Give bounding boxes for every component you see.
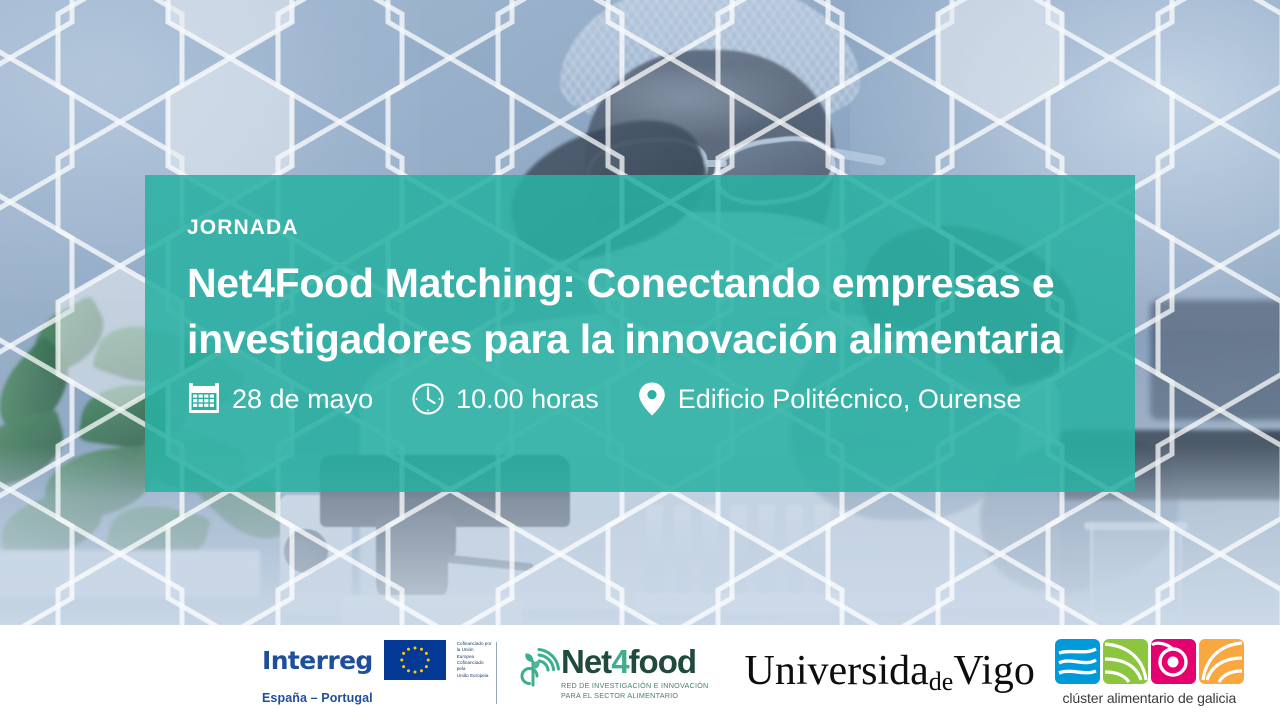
meta-time-label: 10.00 horas (456, 386, 599, 413)
net4food-accent-four: 4 (611, 643, 628, 680)
net4food-sprout-wifi-icon (515, 647, 561, 698)
interreg-subtitle: España – Portugal (262, 691, 373, 705)
clock-icon (411, 382, 445, 416)
location-pin-icon (637, 381, 667, 417)
eu-flag-icon (384, 640, 446, 680)
footer-logo-bar: Interreg (0, 625, 1280, 720)
meta-date: 28 de mayo (187, 382, 373, 416)
logo-universidade-vigo: UniversidadeVigo (745, 625, 1035, 720)
magenta-circle-mark (1151, 639, 1196, 684)
meta-location: Edificio Politécnico, Ourense (637, 381, 1022, 417)
interreg-wordmark: Interreg (262, 646, 373, 675)
meta-date-label: 28 de mayo (232, 386, 373, 413)
logo-net4food: Net4food RED DE INVESTIGACIÓN E INNOVACI… (515, 625, 709, 720)
event-poster: JORNADA Net4Food Matching: Conectando em… (0, 0, 1280, 720)
event-banner: JORNADA Net4Food Matching: Conectando em… (145, 175, 1135, 492)
blue-wave-mark (1055, 639, 1100, 684)
footer-divider (496, 642, 497, 704)
logo-interreg: Interreg (262, 625, 492, 720)
meta-time: 10.00 horas (411, 382, 599, 416)
eu-cofunding-caption: Cofinanciado por la Unión Europea Cofina… (457, 641, 492, 679)
net4food-part2: food (629, 643, 696, 680)
green-leaf-mark (1103, 639, 1148, 684)
calendar-icon (187, 382, 221, 416)
net4food-text-block: Net4food RED DE INVESTIGACIÓN E INNOVACI… (561, 645, 709, 700)
net4food-part1: Net (561, 643, 611, 680)
uvigo-part1: Universida (745, 648, 929, 694)
event-kicker: JORNADA (187, 217, 1135, 238)
meta-location-label: Edificio Politécnico, Ourense (678, 386, 1022, 413)
net4food-wordmark: Net4food (561, 645, 709, 678)
cluster-caption: clúster alimentario de galicia (1063, 690, 1237, 706)
logo-cluster-alimentario: clúster alimentario de galicia (1055, 625, 1244, 720)
net4food-tagline: RED DE INVESTIGACIÓN E INNOVACIÓN PARA E… (561, 681, 709, 700)
cluster-swatches (1055, 639, 1244, 684)
event-meta: 28 de mayo 10.00 horas (187, 381, 1135, 417)
uvigo-part2: Vigo (953, 648, 1034, 694)
interreg-row: Interreg (262, 640, 492, 680)
event-title: Net4Food Matching: Conectando empresas e… (187, 255, 1117, 367)
uvigo-wordmark: UniversidadeVigo (745, 650, 1035, 695)
uvigo-part-de: de (929, 667, 954, 696)
orange-fan-mark (1199, 639, 1244, 684)
